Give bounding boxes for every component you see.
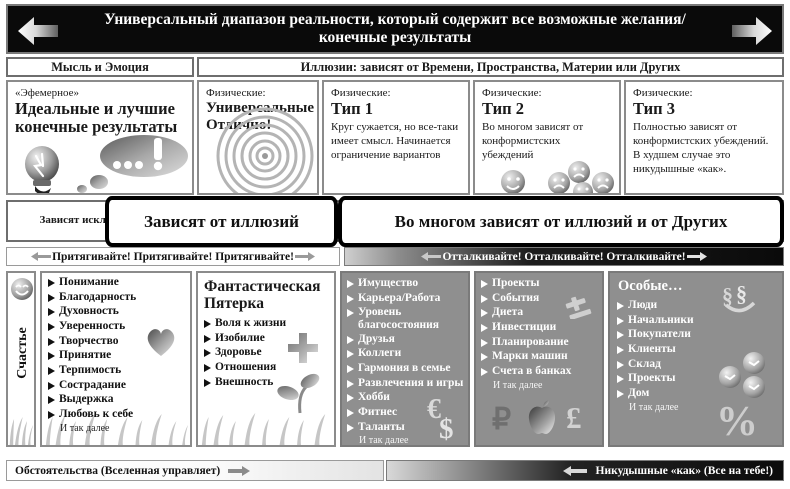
list-item: Воля к жизни — [203, 317, 334, 331]
list-item: Покупатели — [616, 328, 782, 342]
column-type-3: Физические: Тип 3 Полностью зависят от к… — [624, 80, 784, 195]
callout-depends-on-illusions-and-others: Во многом зависят от иллюзий и от Других — [338, 196, 784, 247]
column-body: Полностью зависят от конформистских убеж… — [633, 121, 776, 176]
svg-text:£: £ — [566, 400, 582, 435]
banner-title: Универсальный диапазон реальности, котор… — [75, 11, 715, 48]
footer-left-label: Обстоятельства (Вселенная управляет) — [15, 465, 220, 477]
list-item: Склад — [616, 358, 782, 372]
band-attract: Притягивайте! Притягивайте! Притягивайте… — [6, 247, 340, 266]
column-body: Во многом зависят от конформистских убеж… — [482, 121, 613, 162]
list-item: Счета в банках — [480, 365, 602, 379]
list-item: Внешность — [203, 376, 334, 390]
callout-right-label: Во многом зависят от иллюзий и от Других — [395, 212, 728, 232]
panel-happiness: Счастье — [6, 271, 36, 447]
arrow-right-icon — [227, 465, 251, 477]
grass-icon — [8, 405, 34, 445]
arrow-left-icon — [16, 15, 60, 47]
list-item: Творчество — [47, 335, 190, 349]
column-title: Идеальные и лучшие конечные результаты — [15, 100, 186, 137]
panel-special: Особые… Люди Начальники Покупатели Клиен… — [608, 271, 784, 447]
infographic-root: Универсальный диапазон реальности, котор… — [0, 0, 790, 489]
list-item: Дом — [616, 387, 782, 401]
arrow-left-icon — [420, 251, 442, 262]
arrow-right-icon — [294, 251, 316, 262]
list-item: Друзья — [346, 333, 468, 347]
footer-lousy-hows: Никудышные «как» (Все на тебе!) — [386, 460, 784, 481]
footer-right-label: Никудышные «как» (Все на тебе!) — [596, 465, 773, 477]
column-title: Тип 1 — [331, 100, 462, 118]
panel-possessions: Имущество Карьера/Работа Уровень благосо… — [340, 271, 470, 447]
list-item: События — [480, 292, 602, 306]
projects-list: Проекты События Диета Инвестиции Планиро… — [480, 277, 602, 392]
panel-title: Особые… — [618, 279, 782, 295]
panel-virtues: Понимание Благодарность Духовность Увере… — [40, 271, 192, 447]
list-item: Благодарность — [47, 291, 190, 305]
list-item: Развлечения и игры — [346, 377, 468, 391]
footer-circumstances: Обстоятельства (Вселенная управляет) — [6, 460, 384, 481]
list-item: Проекты — [480, 277, 602, 291]
special-list: Люди Начальники Покупатели Клиенты Склад… — [616, 299, 782, 414]
column-type-2: Физические: Тип 2 Во многом зависят от к… — [473, 80, 621, 195]
list-item: Хобби — [346, 391, 468, 405]
list-item: Фитнес — [346, 406, 468, 420]
list-item-more: И так далее — [616, 402, 782, 414]
panel-title: Фантастическая Пятерка — [204, 278, 328, 312]
arrow-left-icon — [30, 251, 52, 262]
panel-projects: Проекты События Диета Инвестиции Планиро… — [474, 271, 604, 447]
column-title: Универсальные Отлично! — [206, 100, 311, 134]
list-item: Здоровье — [203, 346, 334, 360]
list-item: Принятие — [47, 349, 190, 363]
column-type-1: Физические: Тип 1 Круг сужается, но все-… — [322, 80, 470, 195]
list-item: Коллеги — [346, 347, 468, 361]
list-item: Карьера/Работа — [346, 292, 468, 306]
speech-bubble-icon — [66, 132, 191, 194]
header-thought-emotion: Мысль и Эмоция — [6, 57, 194, 77]
arrow-right-icon — [730, 15, 774, 47]
possessions-list: Имущество Карьера/Работа Уровень благосо… — [346, 277, 468, 447]
list-item: Имущество — [346, 277, 468, 291]
list-item-more: И так далее — [47, 423, 190, 435]
face-icons-group — [497, 160, 621, 195]
list-item: Проекты — [616, 372, 782, 386]
sad-face-icon — [592, 172, 614, 194]
column-kicker: Физические: — [206, 87, 311, 100]
band-repel-label: Отталкивайте! Отталкивайте! Отталкивайте… — [442, 251, 685, 263]
callout-depends-on-illusions: Зависят от иллюзий — [105, 196, 338, 247]
list-item: Планирование — [480, 336, 602, 350]
exclamation-icon — [113, 138, 162, 170]
header-illusions: Иллюзии: зависят от Времени, Пространств… — [197, 57, 784, 77]
column-body: Круг сужается, но все-таки имеет смысл. … — [331, 121, 462, 162]
list-item: Начальники — [616, 314, 782, 328]
smiley-face-icon — [501, 170, 525, 194]
svg-text:₽: ₽ — [492, 403, 511, 435]
list-item-more: И так далее — [346, 435, 468, 447]
happiness-label: Счастье — [15, 311, 31, 395]
list-item: Терпимость — [47, 364, 190, 378]
list-item: Выдержка — [47, 393, 190, 407]
pound-sign-icon: £ — [564, 399, 594, 435]
panel-fantastic-five: Фантастическая Пятерка Воля к жизни Изоб… — [196, 271, 336, 447]
column-title: Тип 3 — [633, 100, 776, 118]
arrow-right-icon — [686, 251, 708, 262]
apple-icon — [526, 399, 558, 435]
grass-icon — [198, 405, 334, 445]
list-item: Марки машин — [480, 350, 602, 364]
list-item: Сострадание — [47, 379, 190, 393]
list-item-more: И так далее — [480, 380, 602, 392]
column-universal: Физические: Универсальные Отлично! — [197, 80, 319, 195]
ruble-sign-icon: ₽ — [490, 401, 518, 435]
lightbulb-icon — [18, 140, 72, 195]
smiley-face-icon — [10, 277, 34, 301]
band-attract-label: Притягивайте! Притягивайте! Притягивайте… — [52, 251, 294, 263]
list-item: Духовность — [47, 305, 190, 319]
list-item: Таланты — [346, 421, 468, 435]
list-item: Гармония в семье — [346, 362, 468, 376]
sad-face-icon — [568, 161, 590, 183]
list-item: Инвестиции — [480, 321, 602, 335]
virtues-list: Понимание Благодарность Духовность Увере… — [47, 276, 190, 435]
callout-left-label: Зависят от иллюзий — [144, 212, 299, 232]
sad-face-icon — [548, 172, 570, 194]
fantastic-five-list: Воля к жизни Изобилие Здоровье Отношения… — [203, 317, 334, 389]
list-item: Изобилие — [203, 332, 334, 346]
list-item: Уверенность — [47, 320, 190, 334]
list-item: Люди — [616, 299, 782, 313]
list-item: Диета — [480, 306, 602, 320]
header-right-label: Иллюзии: зависят от Времени, Пространств… — [301, 60, 681, 75]
header-left-label: Мысль и Эмоция — [51, 60, 149, 75]
list-item: Любовь к себе — [47, 408, 190, 422]
list-item: Отношения — [203, 361, 334, 375]
column-title: Тип 2 — [482, 100, 613, 118]
column-ephemeral: «Эфемерное» Идеальные и лучшие конечные … — [6, 80, 194, 195]
band-repel: Отталкивайте! Отталкивайте! Отталкивайте… — [344, 247, 784, 266]
sad-face-icon — [573, 182, 593, 195]
arrow-left-icon — [562, 465, 588, 477]
list-item: Понимание — [47, 276, 190, 290]
list-item: Уровень благосостояния — [346, 306, 468, 331]
list-item: Клиенты — [616, 343, 782, 357]
universal-range-banner: Универсальный диапазон реальности, котор… — [6, 4, 784, 54]
